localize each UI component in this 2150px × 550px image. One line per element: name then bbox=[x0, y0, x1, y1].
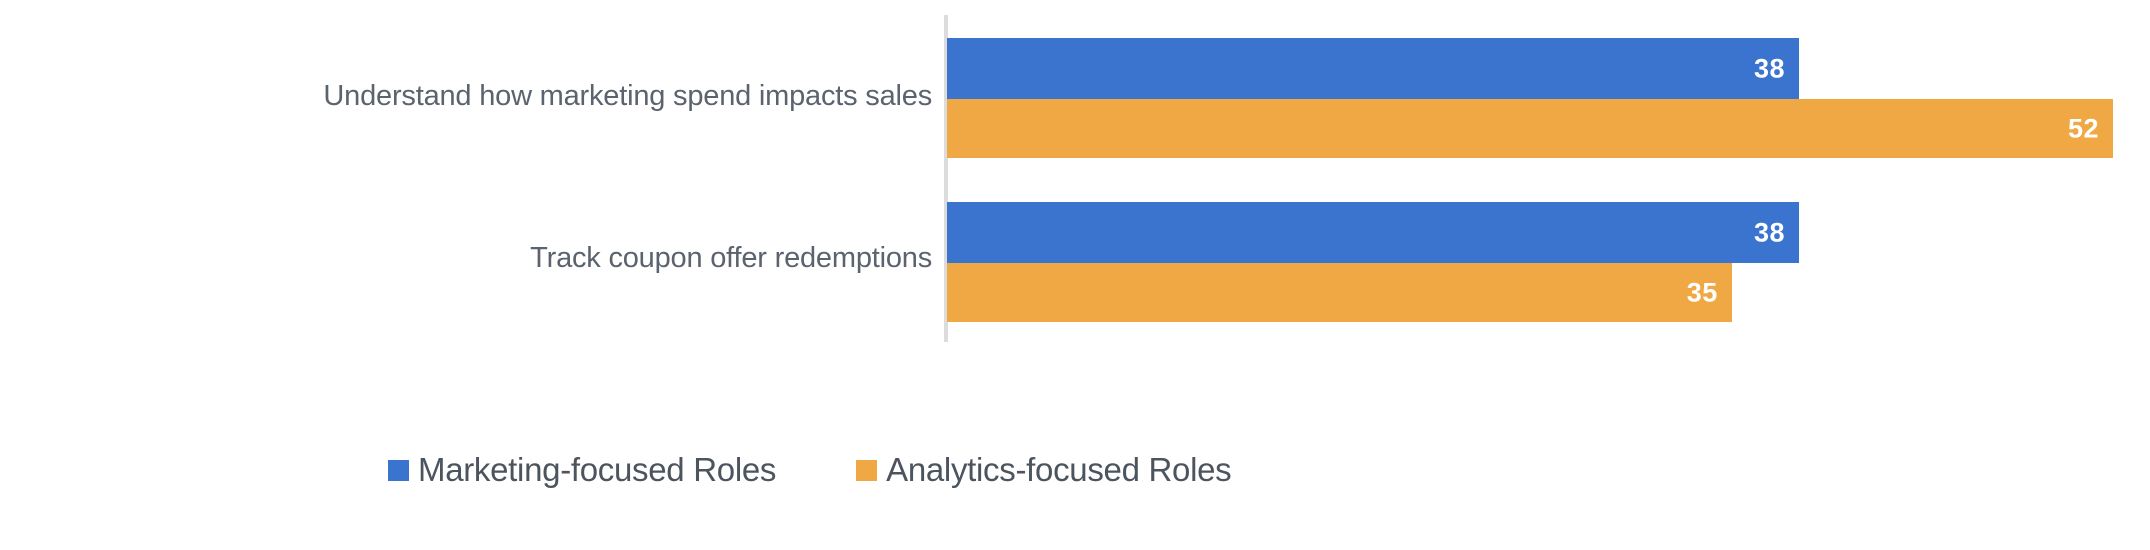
square-marker-icon bbox=[388, 460, 409, 481]
category-label-0: Understand how marketing spend impacts s… bbox=[32, 79, 932, 113]
legend-item-marketing-focused-roles[interactable]: Marketing-focused Roles bbox=[388, 452, 776, 488]
chart-legend: Marketing-focused Roles Analytics-focuse… bbox=[0, 440, 2150, 500]
bar-value-label: 52 bbox=[2068, 115, 2099, 142]
square-marker-icon bbox=[856, 460, 877, 481]
bar-value-label: 35 bbox=[1687, 279, 1718, 306]
legend-item-analytics-focused-roles[interactable]: Analytics-focused Roles bbox=[856, 452, 1231, 488]
bar-chart: Understand how marketing spend impacts s… bbox=[0, 0, 2150, 550]
bar-marketing-focused-roles-1[interactable]: 38 bbox=[947, 202, 1799, 263]
legend-label: Marketing-focused Roles bbox=[418, 452, 776, 488]
bar-analytics-focused-roles-1[interactable]: 35 bbox=[947, 263, 1732, 322]
plot-area: Understand how marketing spend impacts s… bbox=[0, 0, 2150, 400]
legend-label: Analytics-focused Roles bbox=[886, 452, 1231, 488]
bar-value-label: 38 bbox=[1754, 219, 1785, 246]
bar-value-label: 38 bbox=[1754, 55, 1785, 82]
category-label-1: Track coupon offer redemptions bbox=[32, 241, 932, 275]
bar-marketing-focused-roles-0[interactable]: 38 bbox=[947, 38, 1799, 99]
bar-analytics-focused-roles-0[interactable]: 52 bbox=[947, 99, 2113, 158]
